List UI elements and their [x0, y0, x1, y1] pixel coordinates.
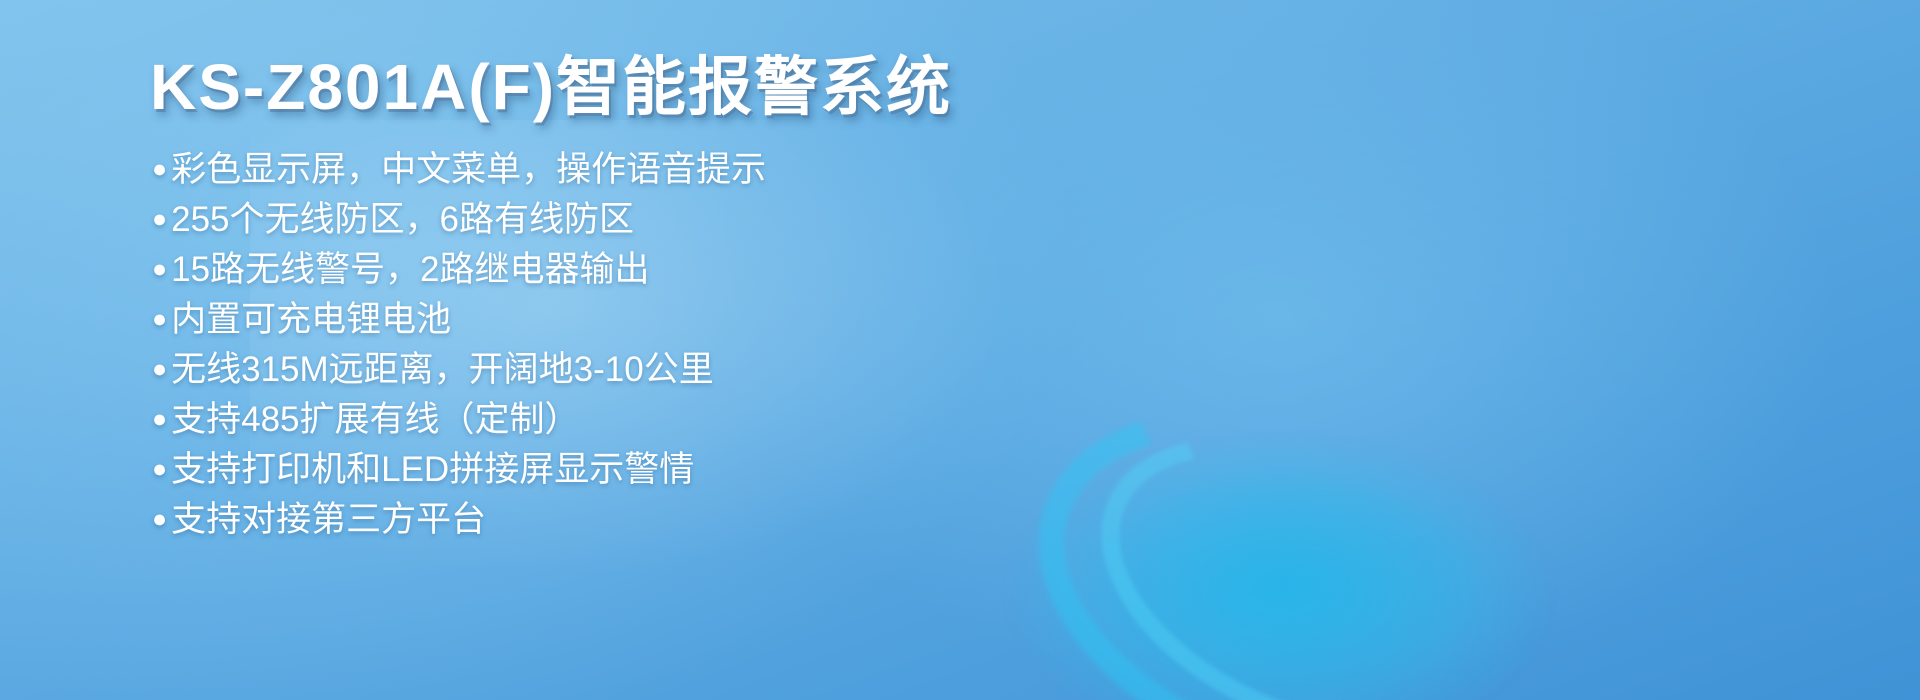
bullet-icon: ●: [152, 307, 167, 332]
bullet-icon: ●: [152, 357, 167, 382]
list-item: ● 支持对接第三方平台: [152, 502, 992, 537]
product-device-image: ▵ 22 27 04-01-01 星期四 主电 备电: [960, 0, 1660, 700]
bullet-icon: ●: [152, 507, 167, 532]
product-banner: KS-Z801A(F)智能报警系统 ● 彩色显示屏，中文菜单，操作语音提示 ● …: [0, 0, 1920, 700]
text-column: KS-Z801A(F)智能报警系统 ● 彩色显示屏，中文菜单，操作语音提示 ● …: [0, 0, 1000, 700]
list-item: ● 彩色显示屏，中文菜单，操作语音提示: [152, 152, 992, 187]
feature-text: 15路无线警号，2路继电器输出: [171, 252, 649, 287]
feature-text: 支持485扩展有线（定制）: [171, 402, 579, 437]
list-item: ● 15路无线警号，2路继电器输出: [152, 252, 992, 287]
feature-text: 无线315M远距离，开阔地3-10公里: [171, 352, 714, 387]
bullet-icon: ●: [152, 157, 167, 182]
feature-text: 彩色显示屏，中文菜单，操作语音提示: [171, 152, 766, 187]
bullet-icon: ●: [152, 457, 167, 482]
list-item: ● 无线315M远距离，开阔地3-10公里: [152, 352, 992, 387]
bullet-icon: ●: [152, 207, 167, 232]
feature-text: 255个无线防区，6路有线防区: [171, 202, 634, 237]
list-item: ● 255个无线防区，6路有线防区: [152, 202, 992, 237]
list-item: ● 支持485扩展有线（定制）: [152, 402, 992, 437]
bullet-icon: ●: [152, 407, 167, 432]
feature-text: 内置可充电锂电池: [171, 302, 451, 337]
page-title: KS-Z801A(F)智能报警系统: [150, 52, 952, 122]
feature-text: 支持打印机和LED拼接屏显示警情: [171, 452, 694, 487]
bullet-icon: ●: [152, 257, 167, 282]
feature-list: ● 彩色显示屏，中文菜单，操作语音提示 ● 255个无线防区，6路有线防区 ● …: [152, 152, 992, 552]
list-item: ● 支持打印机和LED拼接屏显示警情: [152, 452, 992, 487]
feature-text: 支持对接第三方平台: [171, 502, 486, 537]
list-item: ● 内置可充电锂电池: [152, 302, 992, 337]
